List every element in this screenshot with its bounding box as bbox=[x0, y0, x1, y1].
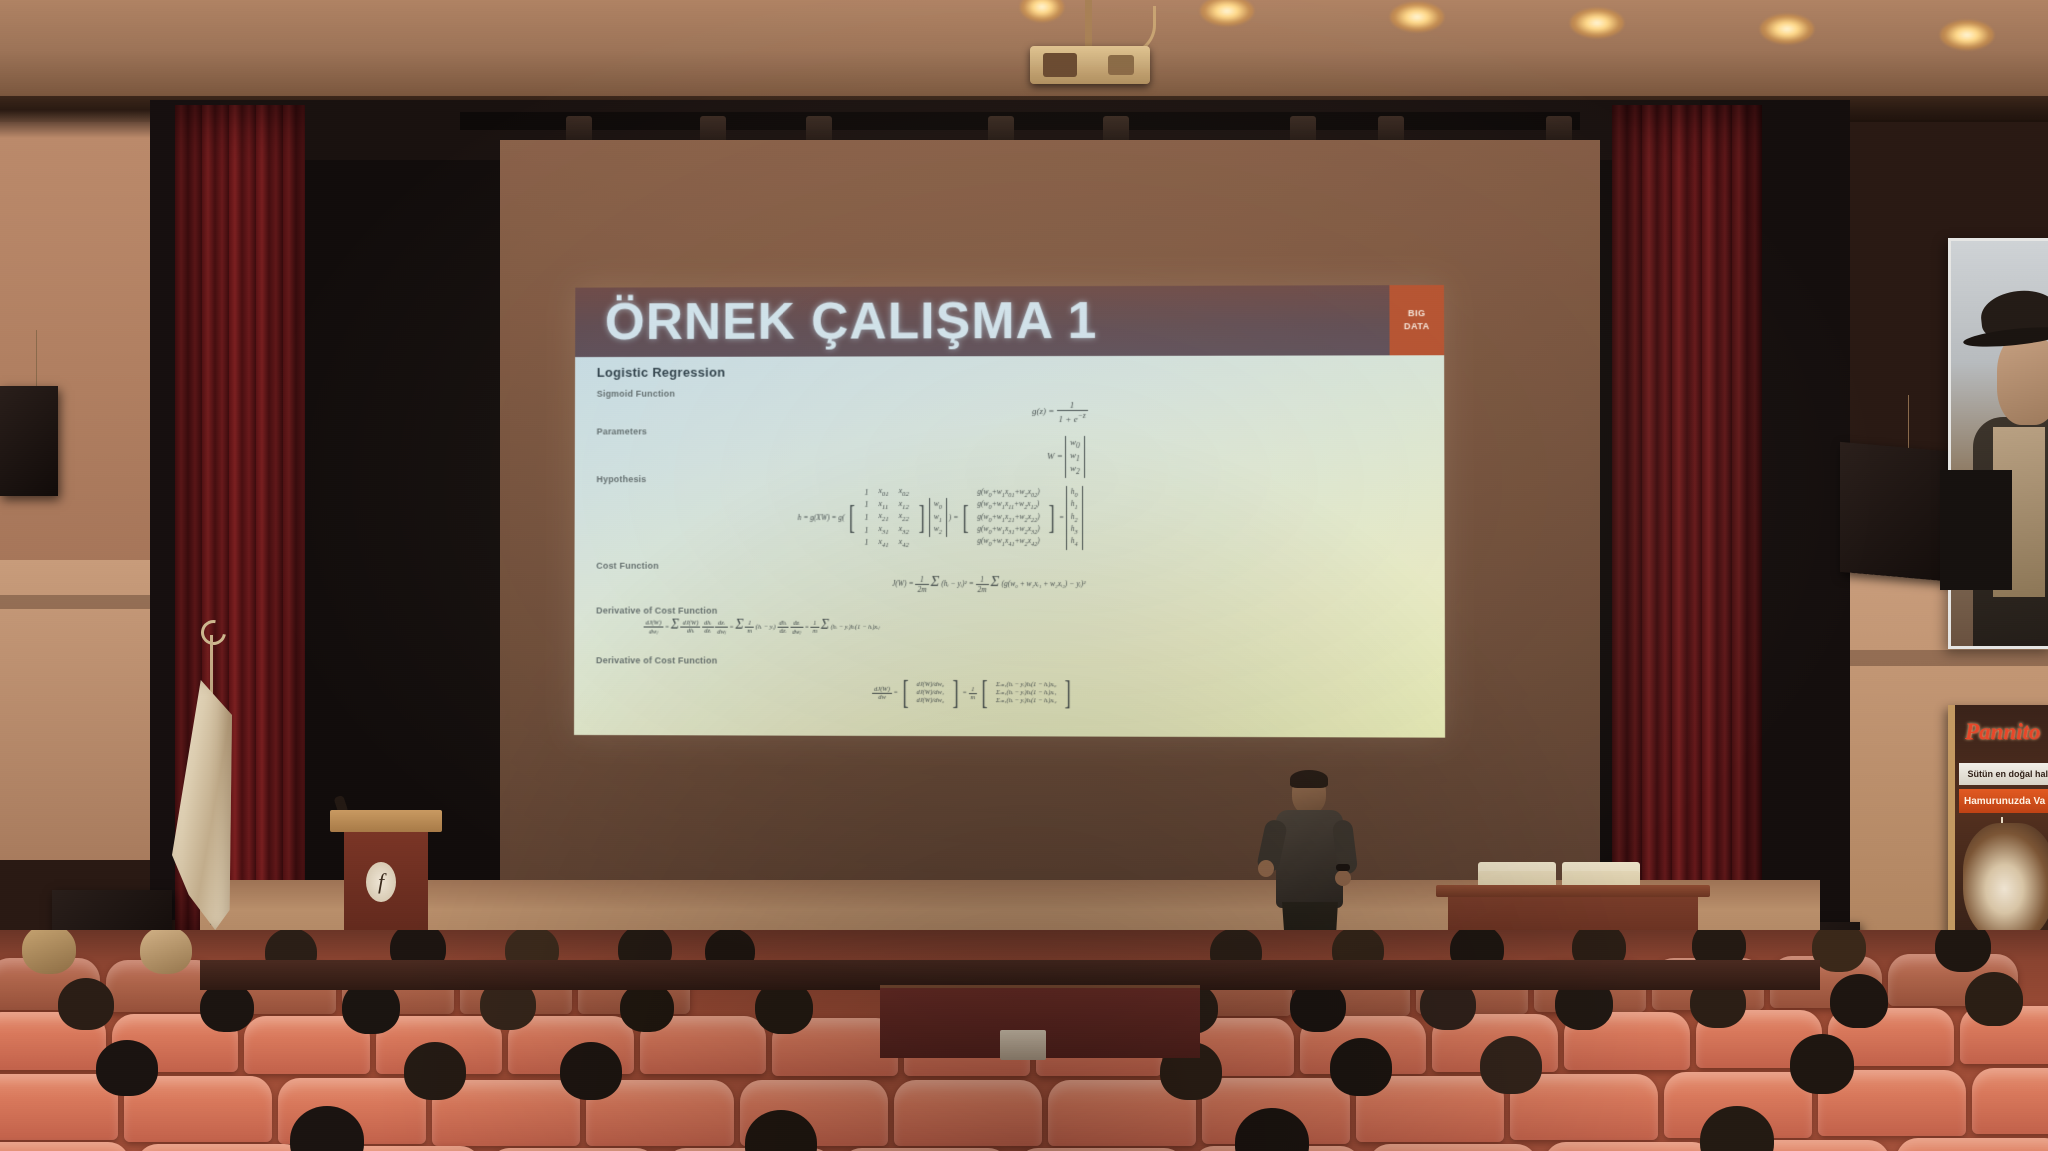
params-lhs: W = bbox=[1047, 451, 1063, 461]
params-vector: w0 w1 w2 bbox=[1065, 436, 1085, 478]
x-r4c1: x41 bbox=[874, 537, 894, 550]
ad-headline: Hamurunuzda Va bbox=[1959, 789, 2048, 813]
sigmoid-den-text: 1 + e bbox=[1059, 414, 1078, 424]
bracket-open-result: [ bbox=[963, 499, 969, 537]
deriv1-sigma-3: Σ bbox=[821, 618, 829, 633]
slide-section-heading: Logistic Regression bbox=[597, 365, 726, 380]
seat bbox=[894, 1080, 1042, 1146]
bracket-close-grad: ] bbox=[952, 674, 958, 712]
bracket-close-x: ] bbox=[918, 499, 924, 537]
podium-emblem: f bbox=[366, 862, 396, 902]
label-derivative-cost-function-1: Derivative of Cost Function bbox=[596, 606, 717, 616]
sigmoid-fraction: 1 1 + e−z bbox=[1057, 400, 1088, 424]
x-r4c2: x42 bbox=[894, 537, 914, 550]
deriv1-t4-num: dhᵢ bbox=[777, 620, 788, 628]
audience-head bbox=[96, 1040, 158, 1096]
deriv1-frac-num: 1 bbox=[745, 620, 754, 628]
x-r1c0: 1 bbox=[860, 499, 874, 512]
deriv1-t1-num: dJ(W) bbox=[681, 620, 701, 628]
hypothesis-x-matrix: 1x01x02 1x11x12 1x21x22 1x31x32 1x41x42 bbox=[860, 486, 914, 549]
bracket-close-result: ] bbox=[1048, 499, 1054, 537]
cost-fraction-1: 1 2m bbox=[915, 575, 928, 594]
ceiling-light-2 bbox=[1390, 2, 1444, 32]
deriv1-t3-den: dwⱼ bbox=[715, 627, 728, 635]
cost-num-1: 1 bbox=[915, 575, 928, 585]
projector-mount bbox=[1085, 0, 1092, 52]
params-w1: w1 bbox=[1070, 450, 1080, 463]
deriv1-mid-term: (hᵢ − yᵢ) bbox=[756, 624, 776, 631]
hyp-res-3: g(w0+w1x31+w2x32) bbox=[977, 524, 1039, 536]
deriv2-frac-num: 1 bbox=[969, 686, 978, 694]
hyp-res-2: g(w0+w1x21+w2x22) bbox=[977, 512, 1039, 524]
label-parameters: Parameters bbox=[597, 426, 648, 436]
deriv1-t2: dhᵢ dzᵢ bbox=[702, 620, 713, 635]
deriv2-frac-den: m bbox=[969, 694, 978, 701]
hypothesis-result-vector: g(w0+w1x01+w2x02) g(w0+w1x11+w2x12) g(w0… bbox=[973, 486, 1043, 550]
table-row: 1x21x22 bbox=[860, 511, 914, 524]
sigmoid-numerator: 1 bbox=[1057, 400, 1088, 411]
seat bbox=[1544, 1142, 1714, 1151]
deriv2-frac: 1 m bbox=[969, 686, 978, 701]
formula-sigmoid: g(z) = 1 1 + e−z bbox=[1032, 400, 1088, 424]
badge-line-1: BIG bbox=[1408, 307, 1426, 320]
cost-sigma-2: Σ bbox=[991, 574, 1000, 590]
seat bbox=[136, 1144, 306, 1151]
audience-head bbox=[140, 930, 192, 974]
presenter-hand-right bbox=[1335, 870, 1351, 886]
deriv1-sigma-1: Σ bbox=[671, 618, 679, 633]
grad-res-0: Σᵢ₌₁(hᵢ − yᵢ)hᵢ(1 − hᵢ)xᵢ₀ bbox=[996, 681, 1057, 689]
audience-head bbox=[1812, 930, 1866, 972]
grad-res-2: Σᵢ₌₁(hᵢ − yᵢ)hᵢ(1 − hᵢ)xᵢ₂ bbox=[996, 697, 1057, 705]
sigmoid-exponent: −z bbox=[1078, 411, 1086, 420]
hyp-h4: h4 bbox=[1071, 536, 1078, 548]
ad-food-image bbox=[1963, 823, 2048, 943]
table-row: 1x01x02 bbox=[860, 486, 914, 499]
deriv1-tail-term: (hᵢ − yᵢ)hᵢ(1 − hᵢ)xᵢⱼ bbox=[831, 624, 880, 631]
deriv1-t5-num: dzᵢ bbox=[790, 619, 803, 627]
lighting-truss bbox=[460, 112, 1580, 130]
projected-slide: ÖRNEK ÇALIŞMA 1 BIG DATA Logistic Regres… bbox=[574, 285, 1445, 738]
audience-head bbox=[1830, 974, 1888, 1028]
hyp-w1: w1 bbox=[934, 512, 942, 524]
sigmoid-denominator: 1 + e−z bbox=[1057, 411, 1088, 424]
cost-sigma-1: Σ bbox=[930, 574, 939, 590]
ad-brand-logo: Pannito bbox=[1965, 719, 2048, 753]
formula-cost: J(W) = 1 2m Σ (hᵢ − yᵢ)² = 1 2m Σ (g(w₀ … bbox=[892, 574, 1085, 594]
deriv2-lhs-num: dJ(W) bbox=[872, 685, 892, 693]
seat bbox=[1896, 1138, 2048, 1151]
x-r3c2: x32 bbox=[894, 524, 914, 537]
x-r1c2: x12 bbox=[894, 499, 914, 512]
presenter-watch-icon bbox=[1336, 864, 1350, 871]
bracket-open-grad: [ bbox=[902, 674, 908, 712]
hyp-h0: h0 bbox=[1071, 487, 1078, 499]
table-row: 1x11x12 bbox=[860, 499, 914, 512]
hyp-h3: h3 bbox=[1071, 524, 1078, 536]
deriv1-t2-num: dhᵢ bbox=[702, 620, 713, 628]
deriv1-frac-m: 1 m bbox=[745, 620, 754, 635]
hyp-w2: w2 bbox=[934, 524, 942, 536]
hyp-equals-h: = bbox=[1059, 513, 1064, 522]
deriv1-t5-den: dwⱼ bbox=[790, 627, 803, 635]
x-r0c0: 1 bbox=[860, 486, 874, 499]
badge-line-2: DATA bbox=[1404, 320, 1430, 333]
panel-table-top bbox=[1436, 885, 1710, 897]
params-w2: w2 bbox=[1070, 463, 1080, 476]
x-r2c2: x22 bbox=[894, 511, 914, 524]
hypothesis-h-vector: h0 h1 h2 h3 h4 bbox=[1066, 486, 1083, 550]
deriv1-t2-den: dzᵢ bbox=[702, 628, 713, 635]
deriv1-t3-num: dzᵢ bbox=[715, 619, 728, 627]
seat bbox=[0, 1142, 130, 1151]
gradient-result-vector: Σᵢ₌₁(hᵢ − yᵢ)hᵢ(1 − hᵢ)xᵢ₀ Σᵢ₌₁(hᵢ − yᵢ)… bbox=[992, 680, 1061, 707]
deriv1-t1: dJ(W) dhᵢ bbox=[681, 620, 701, 635]
speaker-wire-left bbox=[36, 330, 37, 390]
cost-fraction-2: 1 2m bbox=[976, 575, 989, 594]
grad-0: dJ(W)/dw₀ bbox=[916, 681, 944, 689]
podium-top bbox=[330, 810, 442, 832]
audience-head bbox=[404, 1042, 466, 1100]
deriv1-sigma-2: Σ bbox=[735, 618, 743, 633]
deriv1-t4-den: dzᵢ bbox=[777, 628, 788, 635]
ceiling-light-3 bbox=[1570, 8, 1624, 38]
portrait-foreground-block bbox=[1940, 470, 2012, 590]
deriv1-frac-m2: 1 m bbox=[811, 620, 820, 635]
deriv1-frac-den: m bbox=[745, 628, 754, 635]
audience-head bbox=[560, 1042, 622, 1100]
slide-body: Logistic Regression Sigmoid Function Par… bbox=[574, 355, 1445, 737]
slide-title: ÖRNEK ÇALIŞMA 1 bbox=[605, 291, 1098, 352]
formula-hypothesis: h = g(XW) = g( [ 1x01x02 1x11x12 1x21x22… bbox=[798, 486, 1083, 550]
deriv2-eq-1: = bbox=[894, 689, 898, 696]
deriv1-t3: dzᵢ dwⱼ bbox=[715, 619, 728, 635]
deriv1-t1-den: dhᵢ bbox=[681, 628, 701, 635]
portrait-face bbox=[1997, 333, 2048, 425]
cost-equals-2: = bbox=[969, 579, 974, 588]
x-r2c1: x21 bbox=[874, 511, 894, 524]
x-r0c2: x02 bbox=[894, 486, 914, 499]
deriv1-lhs: dJ(W) dwⱼ bbox=[644, 619, 664, 635]
big-data-badge: BIG DATA bbox=[1389, 285, 1444, 355]
audience-head bbox=[1480, 1036, 1542, 1094]
cost-term-1: (hᵢ − yᵢ)² bbox=[941, 579, 966, 588]
x-r3c0: 1 bbox=[860, 524, 874, 537]
bracket-open-res2: [ bbox=[981, 674, 987, 712]
label-hypothesis: Hypothesis bbox=[596, 474, 646, 484]
deriv1-lhs-den: dwⱼ bbox=[644, 627, 664, 635]
step-plate bbox=[1000, 1030, 1046, 1060]
hyp-h1: h1 bbox=[1071, 499, 1078, 511]
cost-den-1: 2m bbox=[915, 585, 928, 594]
grad-1: dJ(W)/dw₁ bbox=[916, 689, 944, 697]
deriv1-frac2-num: 1 bbox=[811, 620, 820, 628]
slide-header: ÖRNEK ÇALIŞMA 1 BIG DATA bbox=[575, 285, 1444, 357]
formula-derivative-2: dJ(W) dw = [ dJ(W)/dw₀ dJ(W)/dw₁ dJ(W)/d… bbox=[872, 674, 1074, 713]
label-sigmoid-function: Sigmoid Function bbox=[597, 389, 675, 399]
presenter-hair bbox=[1290, 770, 1328, 788]
hyp-res-4: g(w0+w1x41+w2x42) bbox=[977, 536, 1039, 548]
hyp-w0: w0 bbox=[934, 499, 942, 511]
projection-screen: ÖRNEK ÇALIŞMA 1 BIG DATA Logistic Regres… bbox=[500, 140, 1600, 910]
label-derivative-cost-function-2: Derivative of Cost Function bbox=[596, 655, 717, 665]
deriv1-eq-2: = bbox=[729, 624, 733, 631]
hyp-lhs: h = g(XW) = g( bbox=[798, 512, 845, 521]
projector-lens-secondary bbox=[1108, 55, 1134, 75]
grad-res-1: Σᵢ₌₁(hᵢ − yᵢ)hᵢ(1 − hᵢ)xᵢ₁ bbox=[996, 689, 1057, 697]
deriv2-lhs: dJ(W) dw bbox=[872, 685, 892, 700]
deriv1-t5: dzᵢ dwⱼ bbox=[790, 619, 803, 635]
deriv1-eq-1: = bbox=[665, 624, 669, 631]
hyp-h2: h2 bbox=[1071, 512, 1078, 524]
ad-tagline: Sütün en doğal hali bbox=[1959, 763, 2048, 785]
label-cost-function: Cost Function bbox=[596, 561, 658, 571]
hyp-res-0: g(w0+w1x01+w2x02) bbox=[977, 487, 1039, 499]
seat bbox=[1972, 1068, 2048, 1134]
x-r1c1: x11 bbox=[874, 499, 894, 512]
auditorium-scene: ÖRNEK ÇALIŞMA 1 BIG DATA Logistic Regres… bbox=[0, 0, 2048, 1151]
audience-head bbox=[1790, 1034, 1854, 1094]
hyp-res-1: g(w0+w1x11+w2x12) bbox=[977, 499, 1039, 511]
x-r0c1: x01 bbox=[874, 486, 894, 499]
gradient-vector: dJ(W)/dw₀ dJ(W)/dw₁ dJ(W)/dw₂ bbox=[912, 680, 948, 706]
ceiling-light-4 bbox=[1760, 14, 1814, 44]
table-row: 1x31x32 bbox=[860, 524, 914, 537]
grad-2: dJ(W)/dw₂ bbox=[916, 697, 944, 705]
stage-curtain-right bbox=[1612, 105, 1762, 935]
ceiling-light-5 bbox=[1940, 20, 1994, 50]
formula-derivative-1: dJ(W) dwⱼ = Σ dJ(W) dhᵢ dhᵢ dzᵢ dzᵢ bbox=[644, 618, 880, 636]
deriv1-t4: dhᵢ dzᵢ bbox=[777, 620, 788, 635]
audience-head bbox=[22, 930, 76, 974]
seat bbox=[1368, 1144, 1538, 1151]
cost-den-2: 2m bbox=[976, 585, 989, 594]
bracket-open-x: [ bbox=[849, 499, 855, 537]
sigmoid-lhs: g(z) = bbox=[1032, 406, 1054, 416]
audience-head bbox=[1330, 1038, 1392, 1096]
speaker-wire-right bbox=[1908, 395, 1909, 455]
audience-head bbox=[1965, 972, 2023, 1026]
x-r4c0: 1 bbox=[860, 537, 874, 550]
hypothesis-w-vector: w0 w1 w2 bbox=[929, 498, 947, 537]
deriv2-eq-2: = bbox=[963, 690, 967, 697]
cost-num-2: 1 bbox=[976, 575, 989, 585]
deriv1-lhs-num: dJ(W) bbox=[644, 619, 664, 627]
cost-lhs: J(W) = bbox=[892, 579, 913, 588]
presenter-hand-left bbox=[1258, 860, 1274, 877]
table-row: 1x41x42 bbox=[860, 537, 914, 550]
deriv1-eq-3: = bbox=[805, 624, 809, 631]
projector-lens bbox=[1043, 53, 1077, 77]
audience-head bbox=[58, 978, 114, 1030]
cost-term-2: (g(w₀ + w₁xᵢ₁ + w₂xᵢ₂) − yᵢ)² bbox=[1001, 579, 1085, 588]
bracket-close-res2: ] bbox=[1065, 674, 1071, 712]
deriv1-frac2-den: m bbox=[811, 628, 820, 635]
x-r3c1: x31 bbox=[874, 524, 894, 537]
params-w0: w0 bbox=[1070, 437, 1080, 450]
deriv2-lhs-den: dw bbox=[872, 693, 892, 700]
wall-speaker-upper-left bbox=[0, 386, 58, 496]
x-r2c0: 1 bbox=[860, 511, 874, 524]
formula-parameters: W = w0 w1 w2 bbox=[1047, 436, 1085, 478]
audience-head bbox=[1935, 930, 1991, 972]
hyp-eq: ) = bbox=[949, 512, 958, 521]
